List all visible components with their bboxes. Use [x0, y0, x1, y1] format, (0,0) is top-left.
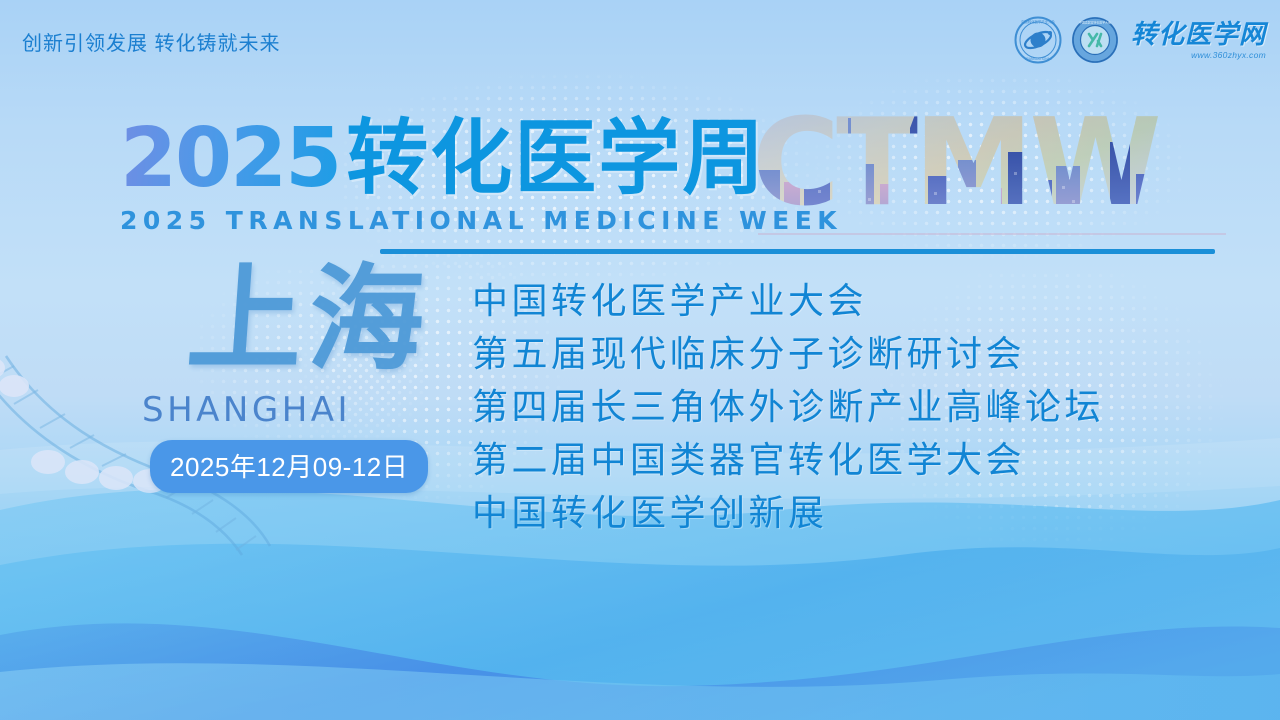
event-item: 第四届长三角体外诊断产业高峰论坛	[472, 388, 1104, 427]
title-year: 2025	[120, 118, 340, 200]
event-item: 第二届中国类器官转化医学大会	[472, 441, 1104, 480]
location-english: SHANGHAI	[142, 390, 351, 430]
atom-orbit-emblem-icon: 中国转化医学产业大会 TRANSLATIONAL	[1014, 16, 1062, 64]
event-item: 中国转化医学产业大会	[472, 282, 1104, 321]
brand-url: www.360zhyx.com	[1191, 50, 1266, 60]
event-item: 第五届现代临床分子诊断研讨会	[472, 335, 1104, 374]
svg-text:中国转化医学产业大会: 中国转化医学产业大会	[1021, 19, 1056, 24]
location-chinese: 上海	[184, 262, 434, 377]
tagline: 创新引领发展 转化铸就未来	[22, 27, 281, 56]
title-chinese: 转化医学周	[346, 118, 766, 200]
shanghai-skyline-icon: CTMW	[752, 96, 1232, 236]
svg-text:TRANSLATIONAL: TRANSLATIONAL	[1024, 57, 1052, 61]
svg-text:中国类器官转化医学大会: 中国类器官转化医学大会	[1079, 20, 1111, 25]
brand-name: 转化医学网	[1131, 21, 1266, 47]
conference-banner: 创新引领发展 转化铸就未来 中国转化医学产业大会 TRANSLATIONAL	[0, 0, 1280, 720]
location-block: 上海 SHANGHAI 2025年12月09-12日	[140, 268, 460, 498]
event-list: 中国转化医学产业大会 第五届现代临床分子诊断研讨会 第四届长三角体外诊断产业高峰…	[472, 282, 1104, 532]
xy-chromosome-emblem-icon: 中国类器官转化医学大会	[1071, 16, 1119, 64]
date-badge: 2025年12月09-12日	[150, 440, 428, 493]
title-english: 2025 TRANSLATIONAL MEDICINE WEEK	[120, 206, 842, 235]
main-title-block: 2025 转化医学周 2025 TRANSLATIONAL MEDICINE W…	[120, 118, 842, 235]
brand-logo-bar: 中国转化医学产业大会 TRANSLATIONAL 中国类器官转化医学大会 转化医…	[1014, 16, 1266, 64]
event-item: 中国转化医学创新展	[472, 494, 1104, 533]
divider	[380, 249, 1215, 254]
